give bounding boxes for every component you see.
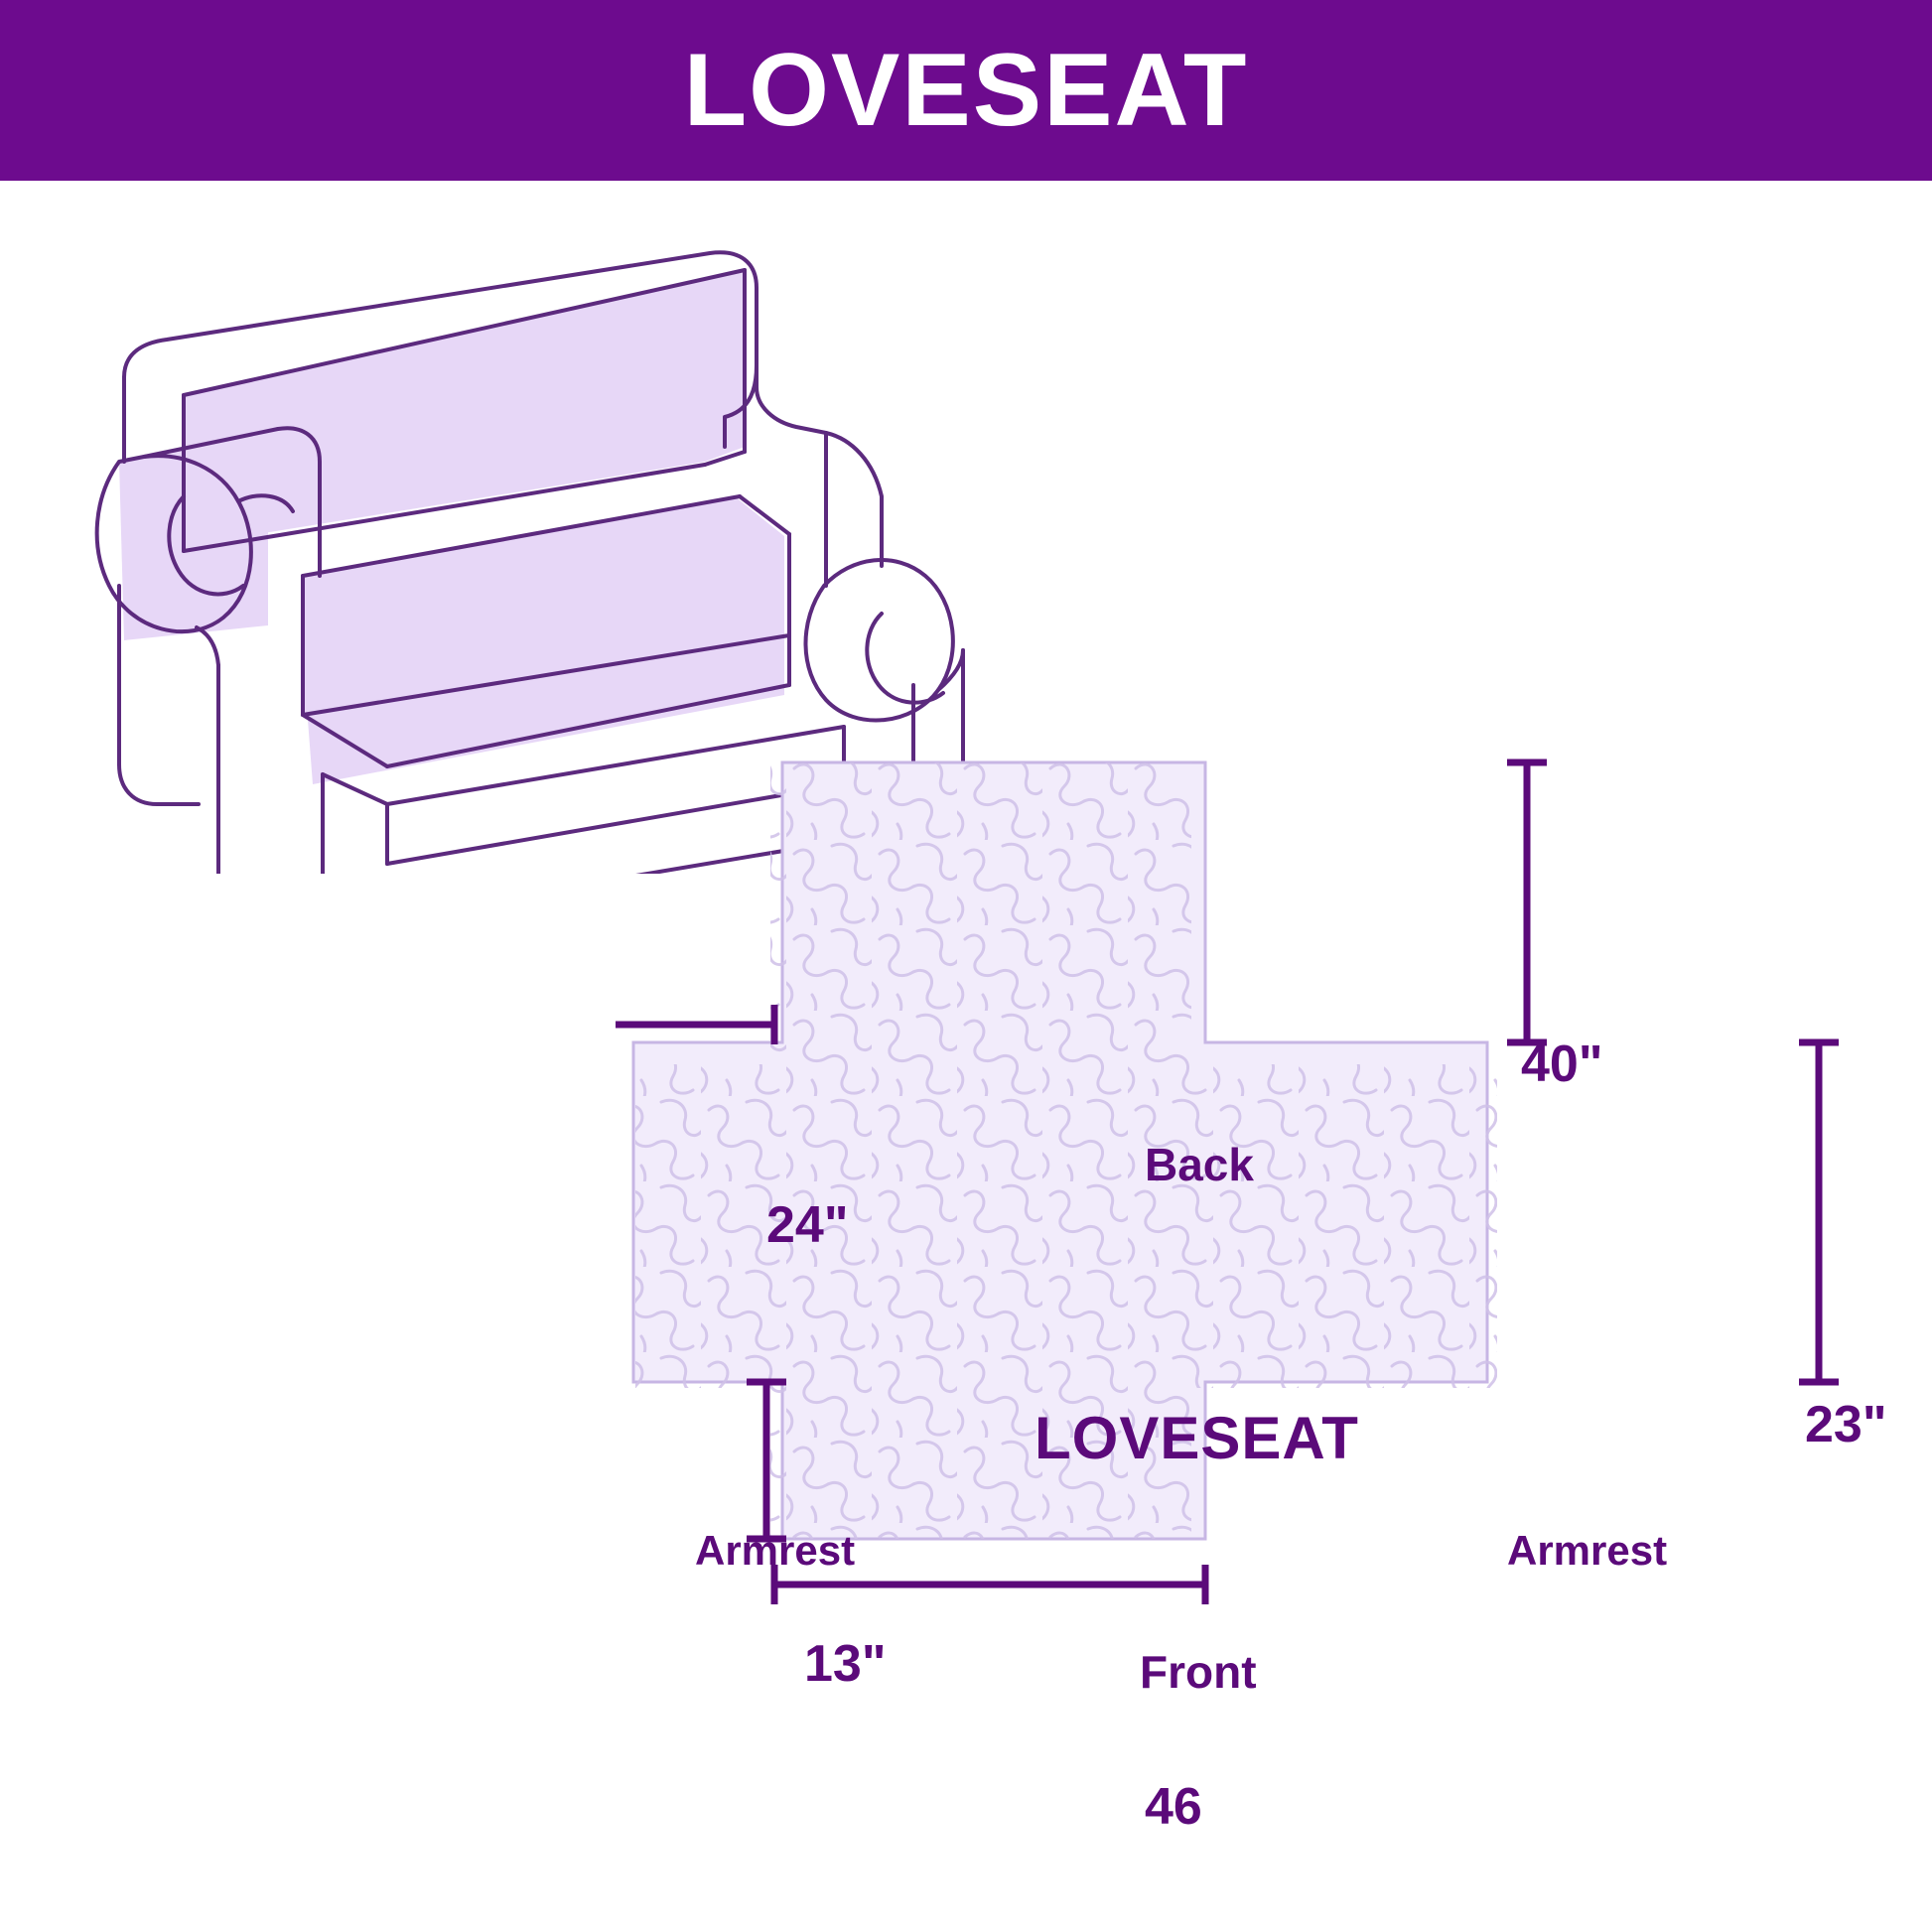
label-back: Back [1145,1138,1254,1191]
dimension-back-height: 40" [1521,1035,1603,1094]
page-title: LOVESEAT [684,39,1249,142]
dimension-front-skirt: 13" [804,1634,887,1694]
dimension-total-width: 46 [1145,1777,1202,1837]
header-bar: LOVESEAT [0,0,1932,181]
label-armrest-right: Armrest [1507,1527,1667,1575]
label-center-loveseat: LOVESEAT [1035,1404,1359,1472]
dimension-back-width-offset: 24" [766,1195,849,1255]
dimension-seat-depth: 23" [1805,1395,1887,1454]
label-armrest-left: Armrest [695,1527,855,1575]
label-front: Front [1140,1645,1257,1699]
